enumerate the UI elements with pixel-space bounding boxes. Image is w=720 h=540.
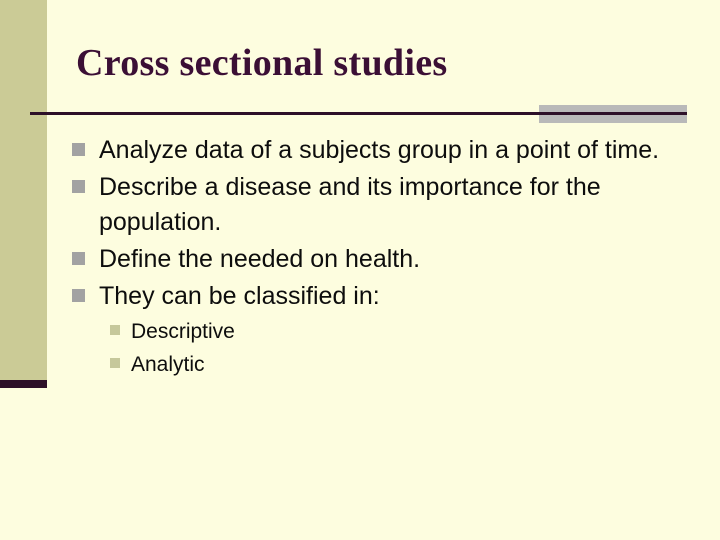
bullet-item: Describe a disease and its importance fo… <box>72 170 684 240</box>
bullet-square-icon <box>72 143 85 156</box>
bullet-text: Analytic <box>131 349 684 380</box>
bullet-item: They can be classified in: <box>72 279 684 314</box>
bullet-text: Define the needed on health. <box>99 242 684 277</box>
sub-bullet-item: Analytic <box>72 349 684 380</box>
bullet-square-icon <box>72 180 85 193</box>
bullet-text: Describe a disease and its importance fo… <box>99 170 684 240</box>
bullet-text: They can be classified in: <box>99 279 684 314</box>
bullet-item: Define the needed on health. <box>72 242 684 277</box>
sub-bullet-item: Descriptive <box>72 316 684 347</box>
sub-bullet-square-icon <box>110 358 120 368</box>
bullet-square-icon <box>72 252 85 265</box>
header-divider-rule <box>30 112 687 115</box>
left-accent-band <box>0 0 47 380</box>
bullet-text: Analyze data of a subjects group in a po… <box>99 133 684 168</box>
presentation-slide: Cross sectional studies Analyze data of … <box>0 0 720 540</box>
bullet-square-icon <box>72 289 85 302</box>
slide-title: Cross sectional studies <box>76 40 676 86</box>
bullet-text: Descriptive <box>131 316 684 347</box>
sub-bullet-square-icon <box>110 325 120 335</box>
left-accent-rule <box>0 380 47 388</box>
slide-body-bullet-list: Analyze data of a subjects group in a po… <box>72 133 684 382</box>
bullet-item: Analyze data of a subjects group in a po… <box>72 133 684 168</box>
